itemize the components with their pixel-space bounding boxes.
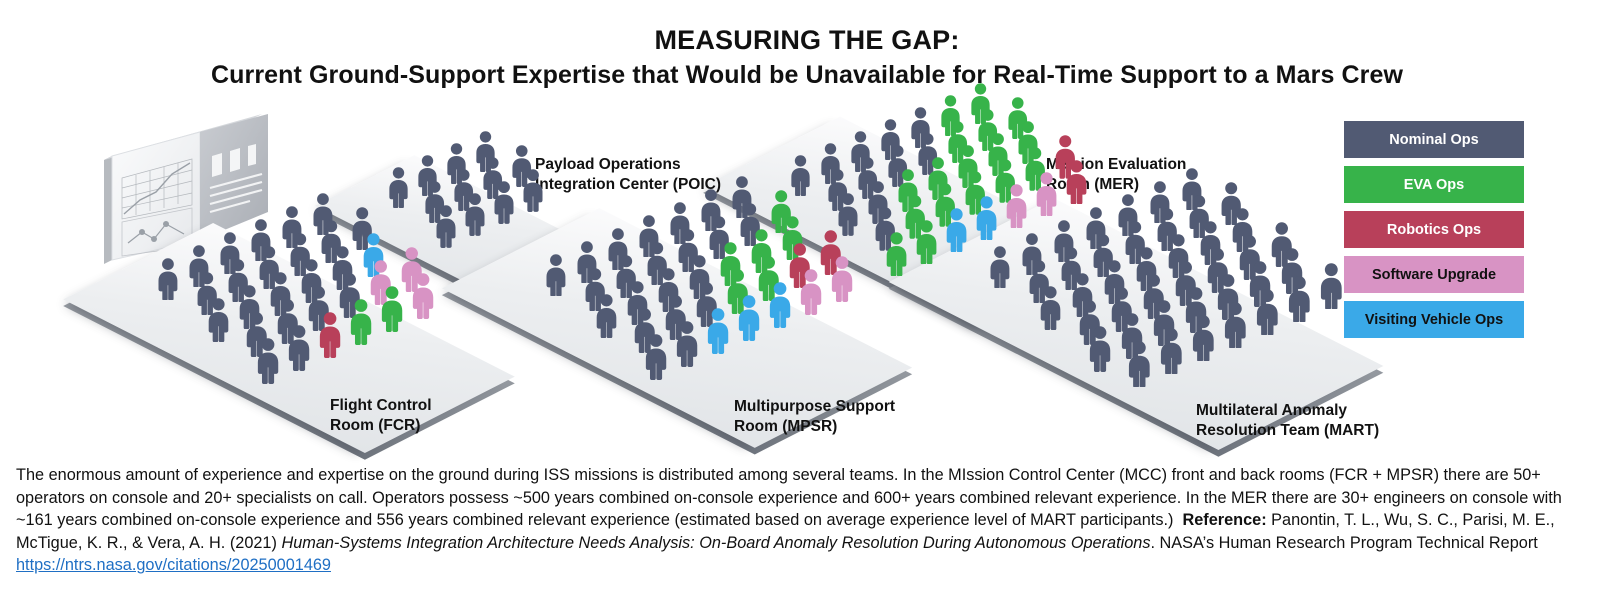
- room-label-mart-line1: Multilateral Anomaly: [1196, 401, 1379, 421]
- person-icon-visiting-vehicle-ops: [972, 196, 1001, 240]
- person-icon-nominal-ops: [490, 181, 518, 224]
- person-icon-nominal-ops: [1316, 263, 1347, 310]
- person-icon-visiting-vehicle-ops: [734, 295, 764, 341]
- legend-item-nominal-ops[interactable]: Nominal Ops: [1344, 121, 1524, 158]
- legend-label-robotics-ops: Robotics Ops: [1387, 222, 1481, 238]
- person-icon-nominal-ops: [1284, 276, 1315, 323]
- room-label-poic-line1: Payload Operations: [535, 155, 721, 175]
- legend-item-visiting-vehicle-ops[interactable]: Visiting Vehicle Ops: [1344, 301, 1524, 338]
- person-icon-software-upgrade: [827, 256, 857, 302]
- person-icon-nominal-ops: [592, 294, 621, 338]
- person-icon-nominal-ops: [1036, 286, 1065, 330]
- person-icon-nominal-ops: [672, 321, 702, 367]
- legend-label-eva-ops: EVA Ops: [1404, 177, 1464, 193]
- legend-label-visiting-vehicle-ops: Visiting Vehicle Ops: [1365, 312, 1503, 328]
- caption-link[interactable]: https://ntrs.nasa.gov/citations/20250001…: [16, 556, 331, 574]
- person-icon-nominal-ops: [1188, 315, 1219, 362]
- person-icon-nominal-ops: [385, 167, 412, 208]
- infographic-canvas: MEASURING THE GAP: Current Ground-Suppor…: [0, 0, 1614, 610]
- room-label-mpsr-line2: Room (MPSR): [734, 417, 895, 437]
- person-icon-nominal-ops: [284, 325, 314, 371]
- room-label-mpsr-line1: Multipurpose Support: [734, 397, 895, 417]
- person-icon-eva-ops: [377, 286, 407, 332]
- legend-item-robotics-ops[interactable]: Robotics Ops: [1344, 211, 1524, 248]
- person-icon-nominal-ops: [1124, 341, 1155, 388]
- person-icon-nominal-ops: [154, 258, 182, 300]
- person-icon-eva-ops: [912, 220, 941, 264]
- person-icon-robotics-ops: [1062, 160, 1091, 204]
- person-icon-nominal-ops: [986, 246, 1014, 288]
- person-icon-nominal-ops: [432, 205, 460, 248]
- person-icon-nominal-ops: [519, 169, 547, 212]
- person-icon-nominal-ops: [1085, 326, 1115, 372]
- person-icon-nominal-ops: [1220, 302, 1251, 349]
- room-label-fcr: Flight Control Room (FCR): [330, 396, 432, 436]
- room-label-poic: Payload Operations Integration Center (P…: [535, 155, 721, 195]
- person-icon-nominal-ops: [204, 298, 233, 342]
- room-label-poic-line2: Integration Center (POIC): [535, 175, 721, 195]
- caption-reference-label: Reference:: [1182, 511, 1266, 529]
- person-icon-software-upgrade: [1002, 184, 1031, 228]
- person-icon-eva-ops: [882, 232, 911, 276]
- person-icon-visiting-vehicle-ops: [703, 308, 733, 354]
- title-line-2: Current Ground-Support Expertise that Wo…: [0, 58, 1614, 92]
- room-label-mart: Multilateral Anomaly Resolution Team (MA…: [1196, 401, 1379, 441]
- legend-label-nominal-ops: Nominal Ops: [1389, 132, 1478, 148]
- page-title: MEASURING THE GAP: Current Ground-Suppor…: [0, 24, 1614, 92]
- person-icon-visiting-vehicle-ops: [942, 208, 971, 252]
- person-icon-nominal-ops: [542, 254, 570, 296]
- person-icon-nominal-ops: [641, 334, 671, 380]
- caption-report-title: Human-Systems Integration Architecture N…: [281, 534, 1150, 552]
- legend-label-software-upgrade: Software Upgrade: [1372, 267, 1496, 283]
- person-icon-software-upgrade: [796, 269, 826, 315]
- person-icon-nominal-ops: [1156, 328, 1187, 375]
- person-icon-software-upgrade: [408, 273, 438, 319]
- caption: The enormous amount of experience and ex…: [16, 464, 1600, 577]
- legend-item-eva-ops[interactable]: EVA Ops: [1344, 166, 1524, 203]
- legend: Nominal Ops EVA Ops Robotics Ops Softwar…: [1344, 121, 1524, 346]
- legend-item-software-upgrade[interactable]: Software Upgrade: [1344, 256, 1524, 293]
- person-icon-visiting-vehicle-ops: [765, 282, 795, 328]
- caption-part-3: . NASA’s Human Research Program Technica…: [1150, 534, 1537, 552]
- title-line-1: MEASURING THE GAP:: [0, 24, 1614, 56]
- person-icon-nominal-ops: [461, 193, 489, 236]
- room-label-mart-line2: Resolution Team (MART): [1196, 421, 1379, 441]
- person-icon-software-upgrade: [1032, 172, 1061, 216]
- person-icon-nominal-ops: [1252, 289, 1283, 336]
- person-icon-robotics-ops: [315, 312, 345, 358]
- person-icon-eva-ops: [346, 299, 376, 345]
- room-label-fcr-line2: Room (FCR): [330, 416, 432, 436]
- room-label-mpsr: Multipurpose Support Room (MPSR): [734, 397, 895, 437]
- person-icon-nominal-ops: [253, 338, 283, 384]
- room-label-fcr-line1: Flight Control: [330, 396, 432, 416]
